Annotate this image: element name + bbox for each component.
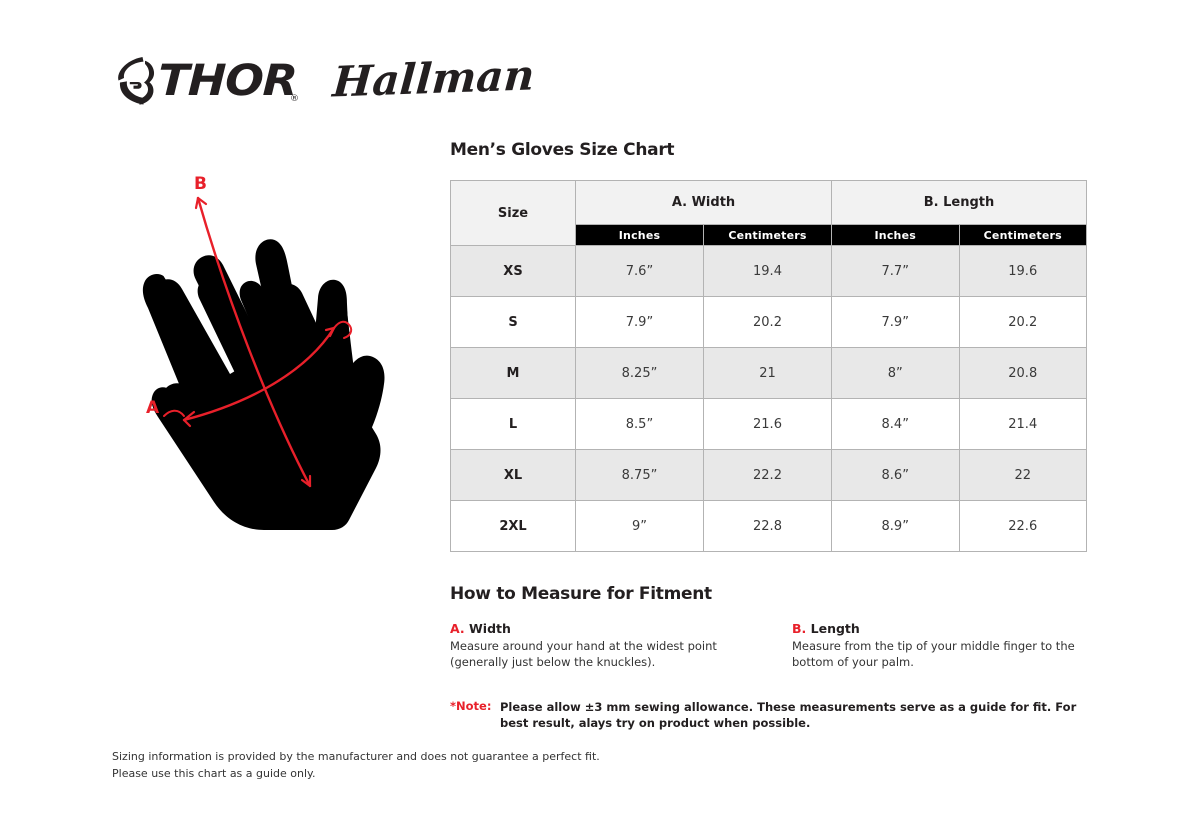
column-header-length-centimeters: Centimeters: [959, 225, 1087, 246]
cell-width-centimeters: 21: [704, 348, 832, 399]
cell-width-centimeters: 22.2: [704, 450, 832, 501]
column-header-length-inches: Inches: [832, 225, 960, 246]
column-header-size: Size: [451, 181, 576, 246]
table-row: S 7.9” 20.2 7.9” 20.2: [451, 297, 1087, 348]
cell-size: 2XL: [451, 501, 576, 552]
how-to-width-letter: A.: [450, 621, 465, 636]
how-to-length-name: Length: [806, 621, 860, 636]
measurement-label-b: B: [194, 176, 207, 193]
how-to-width-heading: A. Width: [450, 621, 744, 636]
table-row: XL 8.75” 22.2 8.6” 22: [451, 450, 1087, 501]
how-to-length-text: Measure from the tip of your middle fing…: [792, 639, 1086, 671]
note-label: *Note:: [450, 699, 500, 713]
content-column: Men’s Gloves Size Chart Size A. Width B.…: [450, 140, 1086, 731]
cell-length-centimeters: 21.4: [959, 399, 1087, 450]
note-row: *Note: Please allow ±3 mm sewing allowan…: [450, 699, 1086, 732]
cell-size: XS: [451, 246, 576, 297]
how-to-measure-title: How to Measure for Fitment: [450, 584, 1086, 604]
how-to-width-text: Measure around your hand at the widest p…: [450, 639, 744, 671]
glove-silhouette-icon: [118, 168, 418, 548]
cell-length-inches: 8.9”: [832, 501, 960, 552]
table-header-row-groups: Size A. Width B. Length: [451, 181, 1087, 225]
hallman-wordmark: Hallman: [331, 55, 536, 104]
how-to-length-block: B. Length Measure from the tip of your m…: [792, 621, 1086, 671]
cell-length-inches: 8”: [832, 348, 960, 399]
column-header-width-centimeters: Centimeters: [704, 225, 832, 246]
cell-width-inches: 8.25”: [576, 348, 704, 399]
size-chart-page: THOR ® Hallman B A Men’s Gl: [0, 0, 1200, 820]
cell-width-centimeters: 21.6: [704, 399, 832, 450]
cell-width-inches: 7.9”: [576, 297, 704, 348]
table-row: XS 7.6” 19.4 7.7” 19.6: [451, 246, 1087, 297]
cell-width-inches: 7.6”: [576, 246, 704, 297]
column-header-group-length: B. Length: [832, 181, 1087, 225]
thor-logo: THOR ®: [112, 52, 299, 110]
cell-width-inches: 9”: [576, 501, 704, 552]
cell-width-centimeters: 19.4: [704, 246, 832, 297]
how-to-length-letter: B.: [792, 621, 806, 636]
cell-width-centimeters: 20.2: [704, 297, 832, 348]
column-header-group-width: A. Width: [576, 181, 832, 225]
cell-size: S: [451, 297, 576, 348]
how-to-length-heading: B. Length: [792, 621, 1086, 636]
table-row: L 8.5” 21.6 8.4” 21.4: [451, 399, 1087, 450]
cell-width-inches: 8.5”: [576, 399, 704, 450]
how-to-measure-columns: A. Width Measure around your hand at the…: [450, 621, 1086, 671]
cell-width-centimeters: 22.8: [704, 501, 832, 552]
note-text: Please allow ±3 mm sewing allowance. The…: [500, 699, 1080, 732]
brand-logo-bar: THOR ® Hallman: [112, 52, 534, 110]
disclaimer-line-1: Sizing information is provided by the ma…: [112, 748, 600, 765]
glove-measurement-figure: B A: [118, 168, 418, 548]
cell-size: XL: [451, 450, 576, 501]
cell-length-inches: 7.9”: [832, 297, 960, 348]
thor-wordmark: THOR: [157, 60, 297, 103]
how-to-width-block: A. Width Measure around your hand at the…: [450, 621, 744, 671]
cell-length-inches: 7.7”: [832, 246, 960, 297]
cell-size: L: [451, 399, 576, 450]
table-row: M 8.25” 21 8” 20.8: [451, 348, 1087, 399]
cell-length-centimeters: 22.6: [959, 501, 1087, 552]
cell-length-centimeters: 20.8: [959, 348, 1087, 399]
cell-length-centimeters: 19.6: [959, 246, 1087, 297]
cell-length-inches: 8.6”: [832, 450, 960, 501]
size-chart-table: Size A. Width B. Length Inches Centimete…: [450, 180, 1087, 552]
how-to-measure-section: How to Measure for Fitment A. Width Meas…: [450, 584, 1086, 671]
cell-length-centimeters: 22: [959, 450, 1087, 501]
cell-length-centimeters: 20.2: [959, 297, 1087, 348]
measurement-label-a: A: [146, 400, 159, 417]
table-row: 2XL 9” 22.8 8.9” 22.6: [451, 501, 1087, 552]
how-to-width-name: Width: [465, 621, 511, 636]
cell-width-inches: 8.75”: [576, 450, 704, 501]
thor-helmet-icon: [112, 55, 156, 107]
column-header-width-inches: Inches: [576, 225, 704, 246]
table-head: Size A. Width B. Length Inches Centimete…: [451, 181, 1087, 246]
size-chart-title: Men’s Gloves Size Chart: [450, 140, 1086, 160]
disclaimer-line-2: Please use this chart as a guide only.: [112, 765, 600, 782]
table-body: XS 7.6” 19.4 7.7” 19.6 S 7.9” 20.2 7.9” …: [451, 246, 1087, 552]
cell-size: M: [451, 348, 576, 399]
disclaimer-footer: Sizing information is provided by the ma…: [112, 748, 600, 782]
cell-length-inches: 8.4”: [832, 399, 960, 450]
